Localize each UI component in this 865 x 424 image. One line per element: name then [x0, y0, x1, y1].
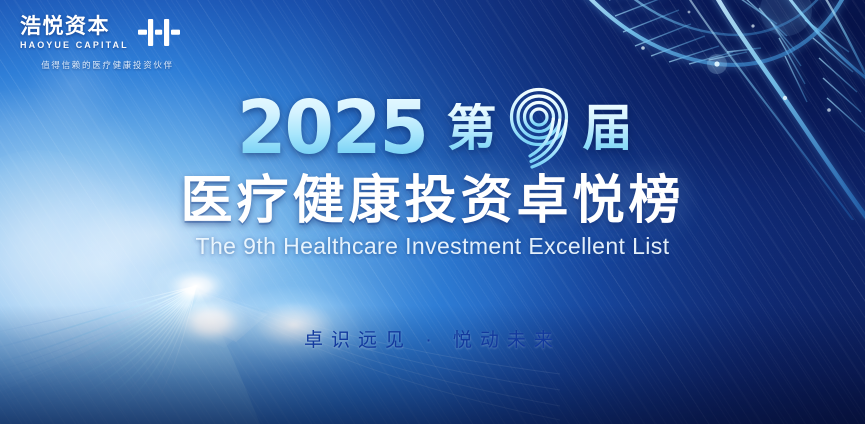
edition-number-nine-icon — [502, 87, 576, 169]
headline-block: 2025 第 — [0, 86, 865, 258]
logo-name-en: HAOYUE CAPITAL — [20, 41, 129, 50]
haoyue-cross-mark-icon — [138, 18, 180, 48]
year-edition-row: 2025 第 — [233, 86, 633, 170]
page-subtitle: The 9th Healthcare Investment Excellent … — [196, 235, 670, 258]
event-key-visual-banner: 浩悦资本 HAOYUE CAPITAL — [0, 0, 865, 424]
logo-tagline: 值得信赖的医疗健康投资伙伴 — [20, 59, 195, 71]
ordinal-prefix-text: 第 — [446, 103, 496, 153]
year-text: 2025 — [236, 91, 426, 165]
page-title: 医疗健康投资卓悦榜 — [180, 172, 684, 230]
logo-name-cn: 浩悦资本 — [20, 16, 129, 38]
ordinal-suffix-text: 届 — [582, 103, 632, 153]
brand-logo[interactable]: 浩悦资本 HAOYUE CAPITAL — [20, 16, 195, 71]
slogan-text: 卓识远见 · 悦动未来 — [0, 331, 865, 350]
